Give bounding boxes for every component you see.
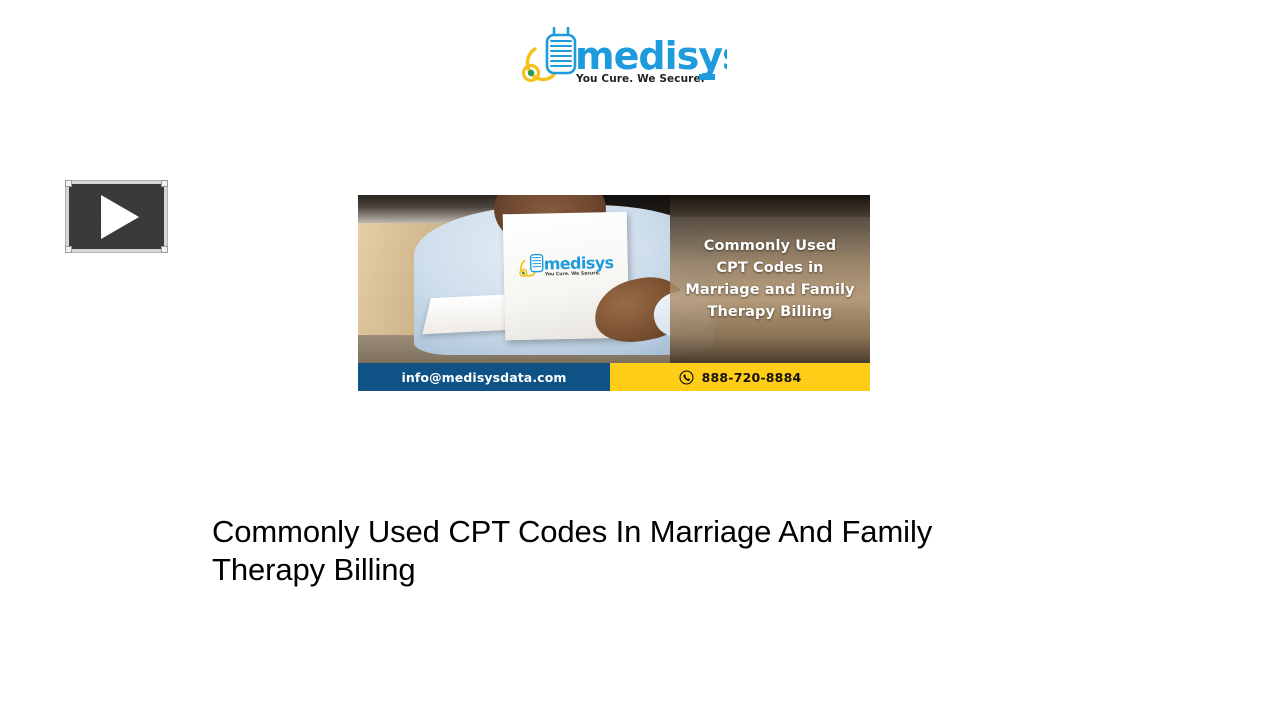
resize-handle-bottom-right[interactable] xyxy=(161,246,168,253)
medisys-logo-graphic: medisys You Cure. We Secure. xyxy=(517,27,727,89)
logo-wordmark: medisys xyxy=(575,34,727,78)
paper-logo-wordmark: medisys xyxy=(544,253,614,273)
banner-phone-block: 888-720-8884 xyxy=(610,363,870,391)
resize-handle-top-right[interactable] xyxy=(161,180,168,187)
phone-circle-icon xyxy=(679,370,694,385)
resize-handle-top-left[interactable] xyxy=(65,180,72,187)
banner-phone-text: 888-720-8884 xyxy=(702,370,802,385)
banner-headline-line-1: Commonly Used xyxy=(704,238,837,254)
paper-medisys-logo: medisys You Cure. We Secure. xyxy=(517,250,614,280)
banner-headline-line-2: CPT Codes in xyxy=(716,260,823,276)
banner-email-text: info@medisysdata.com xyxy=(401,370,566,385)
banner-email-block: info@medisysdata.com xyxy=(358,363,610,391)
video-play-placeholder[interactable] xyxy=(66,181,167,252)
banner-headline-line-3: Marriage and Family xyxy=(685,282,854,298)
banner-contact-bar: info@medisysdata.com 888-720-8884 xyxy=(358,363,870,391)
page-title: Commonly Used CPT Codes In Marriage And … xyxy=(212,513,1042,590)
banner-headline-panel: Commonly Used CPT Codes in Marriage and … xyxy=(670,195,870,363)
banner-image: medisys You Cure. We Secure. Commonly Us… xyxy=(358,195,870,391)
paper-logo-tagline: You Cure. We Secure. xyxy=(544,270,601,277)
play-icon[interactable] xyxy=(101,195,139,239)
logo-tagline: You Cure. We Secure. xyxy=(575,73,705,85)
banner-headline-line-4: Therapy Billing xyxy=(708,304,833,320)
medisys-logo: medisys You Cure. We Secure. xyxy=(517,27,727,89)
banner-headline: Commonly Used CPT Codes in Marriage and … xyxy=(679,235,860,323)
banner-photo: medisys You Cure. We Secure. Commonly Us… xyxy=(358,195,870,363)
resize-handle-bottom-left[interactable] xyxy=(65,246,72,253)
